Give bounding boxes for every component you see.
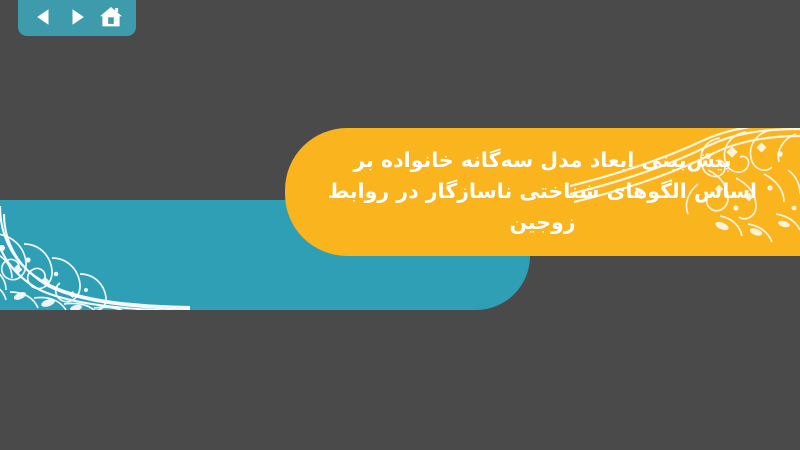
back-triangle-icon [35,8,52,26]
home-button[interactable] [96,3,126,31]
navigation-bar [18,0,136,36]
arabesque-ornament [0,200,190,310]
forward-triangle-icon [69,8,86,26]
forward-button[interactable] [62,3,92,31]
title-line-3: زوجین [509,207,575,238]
home-icon [99,6,123,28]
title-line-2: اساس الگوهای شناختی ناسازگار در روابط [328,176,757,207]
back-button[interactable] [28,3,58,31]
title-band: پیش‌بینی ابعاد مدل سه‌گانه خانواده بر اس… [285,128,800,256]
title-line-1: پیش‌بینی ابعاد مدل سه‌گانه خانواده بر [353,145,731,176]
slide-canvas: پیش‌بینی ابعاد مدل سه‌گانه خانواده بر اس… [0,0,800,450]
slide-title: پیش‌بینی ابعاد مدل سه‌گانه خانواده بر اس… [285,128,800,256]
